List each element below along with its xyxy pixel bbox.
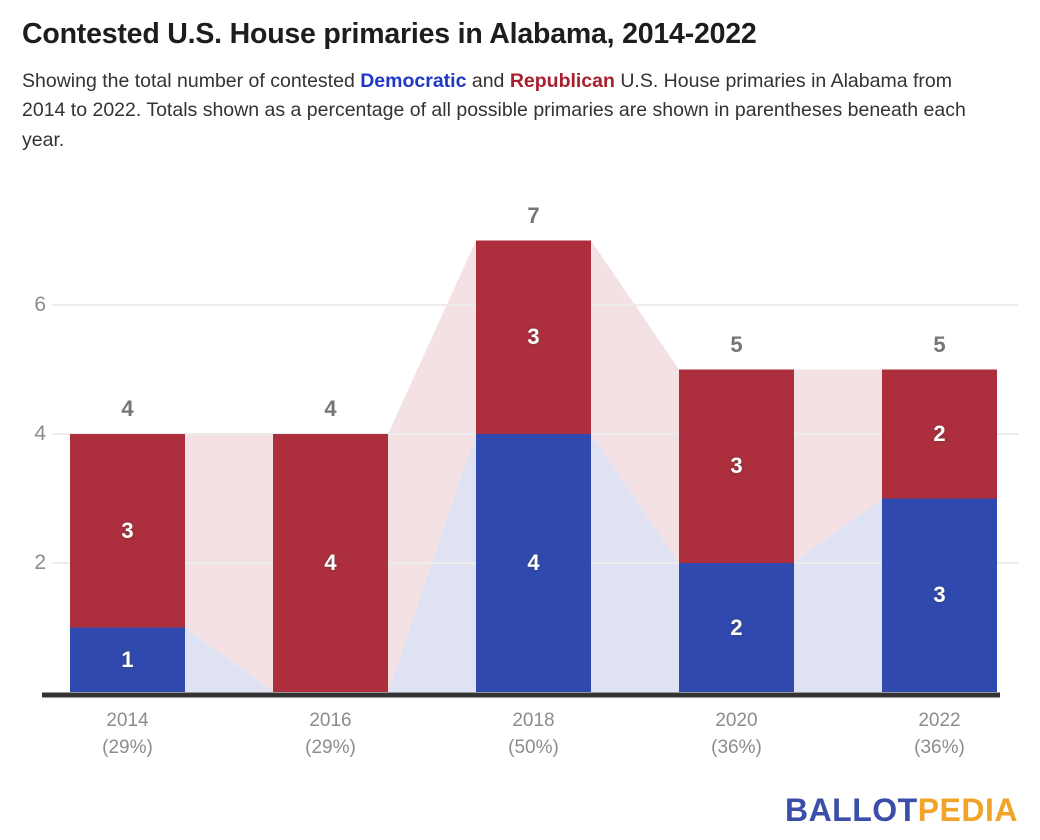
x-axis-year: 2016 bbox=[309, 710, 351, 731]
x-axis-percentage: (50%) bbox=[454, 735, 614, 762]
bar-total-label: 4 bbox=[271, 396, 391, 422]
x-axis-year: 2022 bbox=[918, 710, 960, 731]
bar-total-label: 5 bbox=[677, 332, 797, 358]
bar-total-label: 7 bbox=[474, 203, 594, 229]
x-axis-tick-label: 2018(50%) bbox=[454, 708, 614, 762]
ballotpedia-logo: BALLOTPEDIA bbox=[785, 794, 1018, 826]
bar-segment-label-democratic: 3 bbox=[880, 582, 1000, 608]
bar-segment-label-republican: 3 bbox=[68, 518, 188, 544]
x-axis-percentage: (29%) bbox=[48, 735, 208, 762]
bar-segment-label-democratic: 4 bbox=[474, 550, 594, 576]
x-axis-percentage: (29%) bbox=[251, 735, 411, 762]
bar-segment-label-republican: 2 bbox=[880, 421, 1000, 447]
x-axis-tick-label: 2014(29%) bbox=[48, 708, 208, 762]
y-axis-tick-label: 6 bbox=[8, 293, 46, 317]
x-axis-tick-label: 2020(36%) bbox=[657, 708, 817, 762]
bar-total-label: 4 bbox=[68, 396, 188, 422]
logo-text-ballot: BALLOT bbox=[785, 792, 918, 828]
bar-segment-label-republican: 4 bbox=[271, 550, 391, 576]
chart-page: Contested U.S. House primaries in Alabam… bbox=[0, 0, 1040, 840]
x-axis-percentage: (36%) bbox=[657, 735, 817, 762]
bar-segment-label-republican: 3 bbox=[677, 453, 797, 479]
x-axis-tick-label: 2016(29%) bbox=[251, 708, 411, 762]
bar-total-label: 5 bbox=[880, 332, 1000, 358]
x-axis-tick-label: 2022(36%) bbox=[860, 708, 1020, 762]
x-axis-percentage: (36%) bbox=[860, 735, 1020, 762]
bar-segment-label-democratic: 1 bbox=[68, 647, 188, 673]
logo-text-pedia: PEDIA bbox=[918, 792, 1018, 828]
x-axis-year: 2020 bbox=[715, 710, 757, 731]
bar-segment-label-democratic: 2 bbox=[677, 615, 797, 641]
bar-segment-label-republican: 3 bbox=[474, 324, 594, 350]
y-axis-tick-label: 4 bbox=[8, 422, 46, 446]
x-axis-year: 2018 bbox=[512, 710, 554, 731]
x-axis-year: 2014 bbox=[106, 710, 148, 731]
y-axis-tick-label: 2 bbox=[8, 551, 46, 575]
